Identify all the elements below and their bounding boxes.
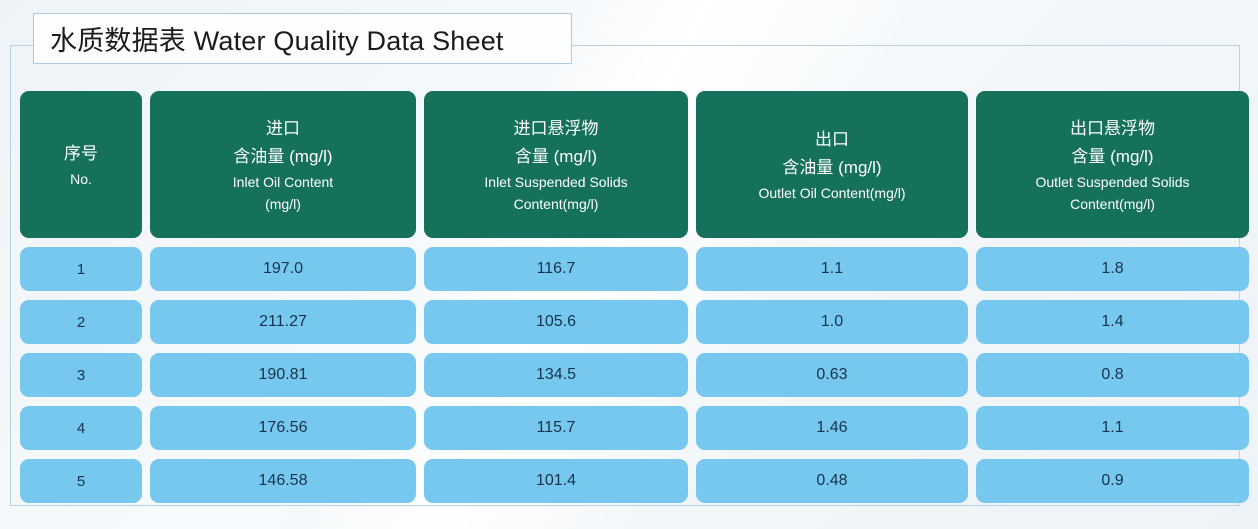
column-header-line: 含油量 (mg/l) (782, 154, 881, 182)
column-header-line: Content(mg/l) (1070, 193, 1155, 215)
column-header-line: 进口 (266, 115, 300, 143)
column-header-line: Inlet Oil Content (233, 171, 333, 193)
column-header-no: 序号No. (20, 91, 142, 238)
table-cell-outlet_oil: 1.0 (696, 300, 968, 344)
table-cell-inlet_suspended: 134.5 (424, 353, 688, 397)
table-cell-outlet_oil: 0.63 (696, 353, 968, 397)
column-header-line: 含量 (mg/l) (1071, 143, 1153, 171)
column-header-line: No. (70, 168, 92, 190)
frame-border-top-left-stub (10, 45, 34, 46)
column-header-inlet_suspended: 进口悬浮物含量 (mg/l)Inlet Suspended SolidsCont… (424, 91, 688, 238)
column-header-line: 进口悬浮物 (514, 115, 599, 143)
column-header-line: Outlet Oil Content(mg/l) (758, 182, 905, 204)
table-cell-no: 1 (20, 247, 142, 291)
column-header-line: 含油量 (mg/l) (233, 143, 332, 171)
table-row: 5146.58101.40.480.9 (20, 459, 1233, 503)
table-header-row: 序号No.进口含油量 (mg/l)Inlet Oil Content(mg/l)… (20, 91, 1233, 238)
table-cell-outlet_suspended: 1.1 (976, 406, 1249, 450)
table-cell-outlet_suspended: 1.8 (976, 247, 1249, 291)
title-box: 水质数据表 Water Quality Data Sheet (33, 13, 572, 64)
table-row: 3190.81134.50.630.8 (20, 353, 1233, 397)
table-cell-inlet_oil: 190.81 (150, 353, 416, 397)
table-cell-no: 5 (20, 459, 142, 503)
table-row: 4176.56115.71.461.1 (20, 406, 1233, 450)
table-row: 2211.27105.61.01.4 (20, 300, 1233, 344)
table-cell-inlet_oil: 211.27 (150, 300, 416, 344)
data-table: 序号No.进口含油量 (mg/l)Inlet Oil Content(mg/l)… (20, 91, 1233, 503)
table-row: 1197.0116.71.11.8 (20, 247, 1233, 291)
table-cell-inlet_suspended: 101.4 (424, 459, 688, 503)
table-cell-outlet_suspended: 0.8 (976, 353, 1249, 397)
frame-border-bottom (10, 505, 1240, 506)
table-cell-no: 3 (20, 353, 142, 397)
table-cell-no: 4 (20, 406, 142, 450)
table-cell-inlet_oil: 176.56 (150, 406, 416, 450)
column-header-line: 出口 (815, 126, 849, 154)
table-cell-inlet_oil: 197.0 (150, 247, 416, 291)
column-header-line: Outlet Suspended Solids (1035, 171, 1189, 193)
table-cell-inlet_suspended: 115.7 (424, 406, 688, 450)
table-cell-outlet_oil: 0.48 (696, 459, 968, 503)
column-header-line: 含量 (mg/l) (515, 143, 597, 171)
column-header-line: 出口悬浮物 (1070, 115, 1155, 143)
column-header-line: Inlet Suspended Solids (484, 171, 627, 193)
page-title: 水质数据表 Water Quality Data Sheet (50, 19, 504, 58)
table-cell-outlet_oil: 1.1 (696, 247, 968, 291)
frame-border-top-right (572, 45, 1240, 46)
column-header-outlet_oil: 出口含油量 (mg/l)Outlet Oil Content(mg/l) (696, 91, 968, 238)
table-cell-inlet_suspended: 105.6 (424, 300, 688, 344)
column-header-outlet_suspended: 出口悬浮物含量 (mg/l)Outlet Suspended SolidsCon… (976, 91, 1249, 238)
column-header-inlet_oil: 进口含油量 (mg/l)Inlet Oil Content(mg/l) (150, 91, 416, 238)
column-header-line: Content(mg/l) (514, 193, 599, 215)
table-cell-outlet_suspended: 1.4 (976, 300, 1249, 344)
frame-border-left (10, 45, 11, 506)
table-cell-inlet_oil: 146.58 (150, 459, 416, 503)
column-header-line: (mg/l) (265, 193, 301, 215)
column-header-line: 序号 (64, 140, 98, 168)
table-cell-inlet_suspended: 116.7 (424, 247, 688, 291)
water-quality-data-sheet-page: 水质数据表 Water Quality Data Sheet 序号No.进口含油… (0, 0, 1258, 529)
table-cell-outlet_suspended: 0.9 (976, 459, 1249, 503)
table-cell-outlet_oil: 1.46 (696, 406, 968, 450)
table-cell-no: 2 (20, 300, 142, 344)
